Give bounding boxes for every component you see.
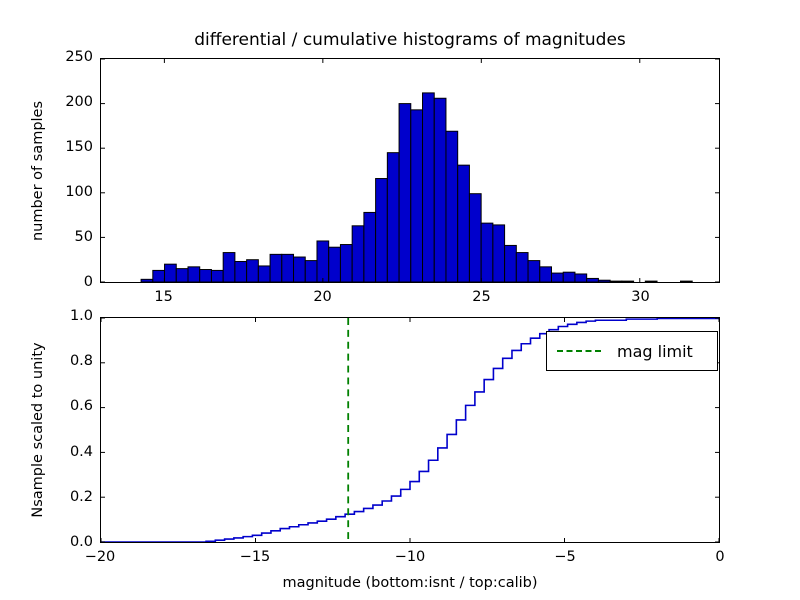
top-xtick-1: 20 <box>283 289 363 305</box>
histogram-bar <box>305 261 317 282</box>
histogram-bar <box>399 104 411 282</box>
histogram-bar <box>516 253 528 282</box>
legend: mag limit <box>546 331 718 371</box>
histogram-bar <box>176 269 188 282</box>
bottom-ytick-0: 0.0 <box>38 535 93 550</box>
histogram-bar <box>423 93 435 282</box>
legend-label-mag-limit: mag limit <box>617 342 693 361</box>
top-xtick-2: 25 <box>442 289 522 305</box>
histogram-bar <box>211 270 223 282</box>
histogram-bar <box>141 279 153 282</box>
top-panel-ylabel: number of samples <box>30 100 46 240</box>
histogram-bar <box>258 266 270 282</box>
bottom-ytick-5: 1.0 <box>38 309 93 324</box>
top-xtick-0: 15 <box>124 289 204 305</box>
bottom-xtick-2: −10 <box>370 549 450 565</box>
figure-canvas: differential / cumulative histograms of … <box>0 0 800 600</box>
histogram-bar <box>469 194 481 282</box>
histogram-bar <box>493 225 505 282</box>
histogram-bar <box>680 281 692 282</box>
histogram-bar <box>552 273 564 282</box>
histogram-bar <box>200 270 212 282</box>
histogram-bar <box>598 280 610 282</box>
bottom-xtick-4: 0 <box>680 549 760 565</box>
histogram-bar <box>481 223 493 282</box>
histogram-plot-area <box>101 59 719 282</box>
figure-title: differential / cumulative histograms of … <box>100 30 720 50</box>
histogram-bar <box>294 257 306 282</box>
histogram-bar <box>540 267 552 282</box>
histogram-bar <box>153 270 165 282</box>
histogram-bar <box>458 165 470 282</box>
histogram-bar <box>622 281 634 282</box>
top-xtick-3: 30 <box>601 289 681 305</box>
bottom-panel-xlabel: magnitude (bottom:isnt / top:calib) <box>100 575 720 591</box>
bottom-ytick-4: 0.8 <box>38 354 93 369</box>
histogram-bar <box>563 272 575 282</box>
histogram-bar <box>223 253 235 282</box>
top-ytick-1: 50 <box>38 230 93 245</box>
top-ytick-0: 0 <box>38 275 93 290</box>
bottom-ytick-2: 0.4 <box>38 445 93 460</box>
mag-limit-line-icon <box>557 344 601 358</box>
histogram-bar <box>364 212 376 282</box>
bottom-xtick-1: −15 <box>215 549 295 565</box>
histogram-bar <box>317 241 329 282</box>
histogram-bar <box>165 264 177 282</box>
bottom-xtick-3: −5 <box>525 549 605 565</box>
histogram-bar <box>505 245 517 282</box>
histogram-bar <box>188 267 200 282</box>
top-ytick-2: 100 <box>38 185 93 200</box>
histogram-bar <box>387 153 399 282</box>
histogram-bar <box>376 179 388 282</box>
histogram-bar <box>528 261 540 282</box>
histogram-bar <box>282 254 294 282</box>
top-ytick-5: 250 <box>38 50 93 65</box>
bottom-ytick-1: 0.2 <box>38 490 93 505</box>
histogram-bar <box>352 226 364 282</box>
histogram-bar <box>645 281 657 282</box>
histogram-bar <box>587 278 599 282</box>
histogram-bar <box>411 110 423 282</box>
histogram-bar <box>446 131 458 282</box>
histogram-bar <box>329 247 341 282</box>
histogram-bar <box>270 254 282 282</box>
bottom-xtick-0: −20 <box>60 549 140 565</box>
histogram-bar <box>434 98 446 282</box>
top-ytick-4: 200 <box>38 95 93 110</box>
histogram-bar <box>247 260 259 282</box>
histogram-bar <box>575 274 587 282</box>
histogram-bar <box>610 281 622 282</box>
histogram-bar <box>235 261 247 282</box>
top-panel-axes <box>100 58 720 283</box>
top-ytick-3: 150 <box>38 140 93 155</box>
bottom-ytick-3: 0.6 <box>38 399 93 414</box>
histogram-bar <box>340 245 352 282</box>
